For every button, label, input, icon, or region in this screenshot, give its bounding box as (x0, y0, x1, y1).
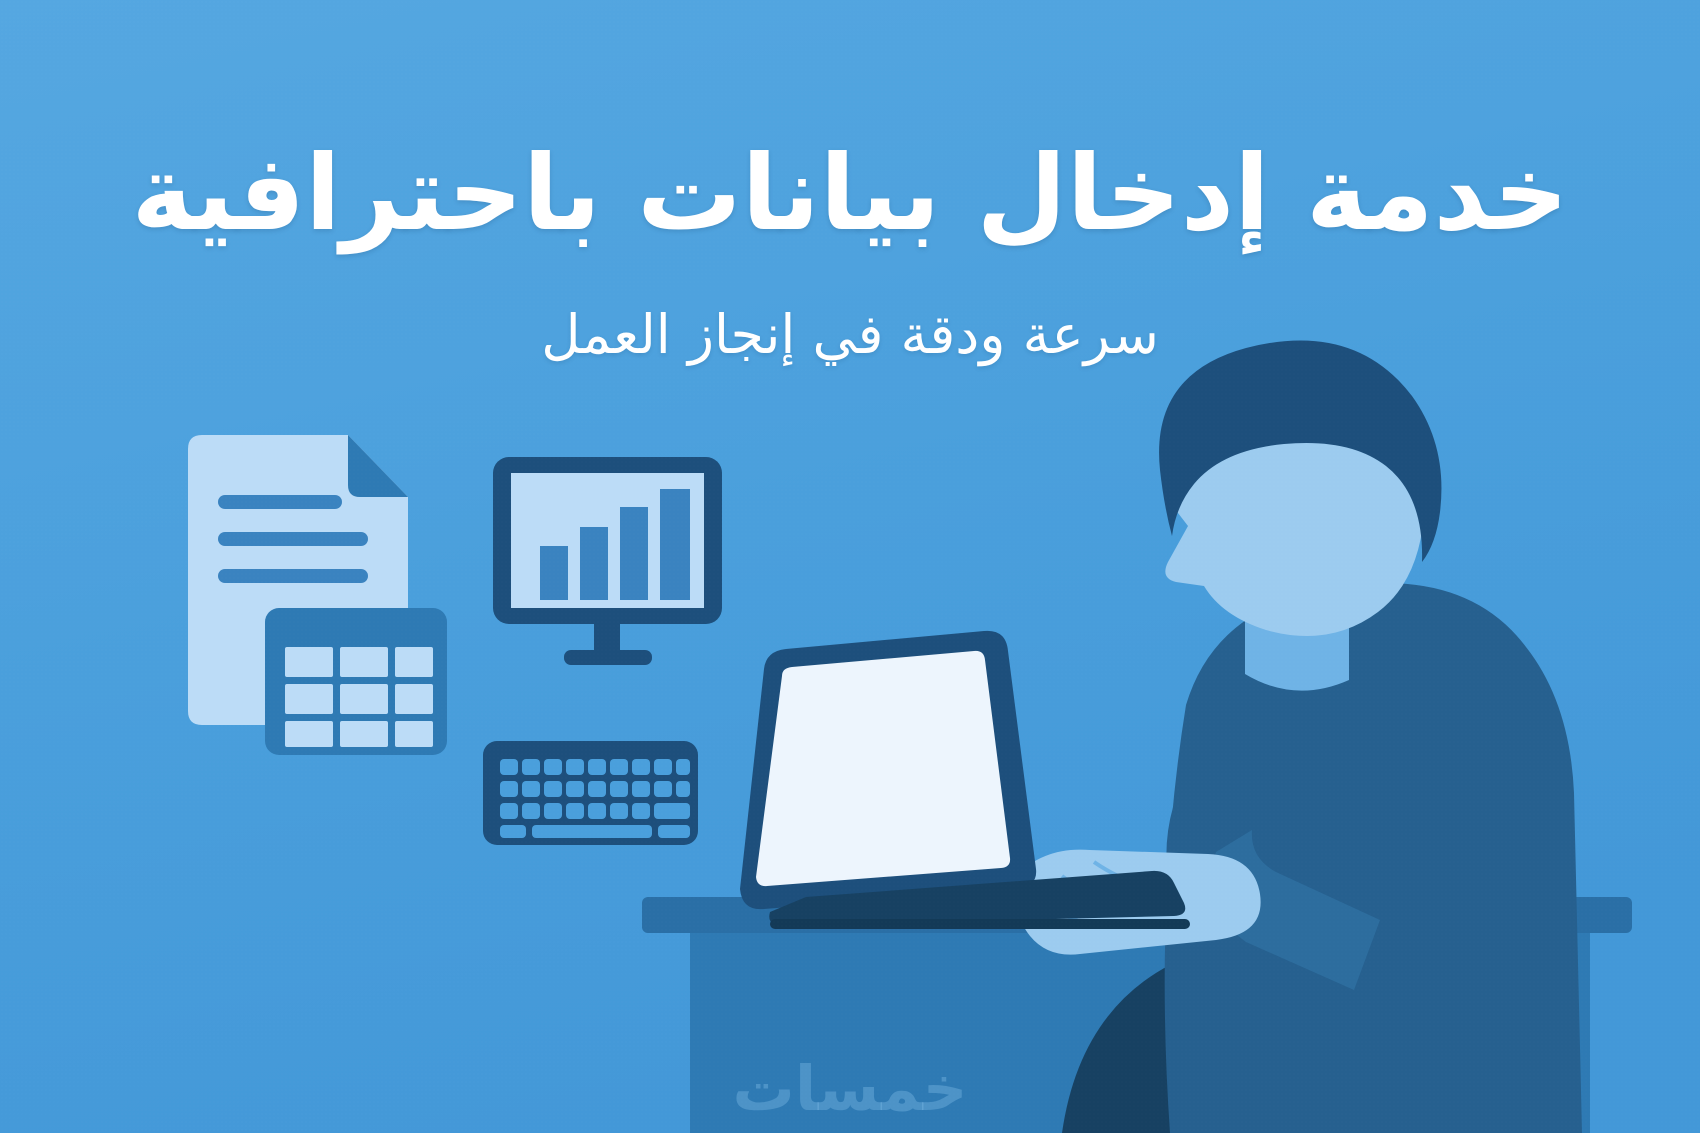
poster-canvas: خدمة إدخال بيانات باحترافية سرعة ودقة في… (0, 0, 1700, 1133)
document-line-3 (218, 569, 368, 583)
monitor-stand-base (564, 650, 652, 665)
document-line-2 (218, 532, 368, 546)
spreadsheet-cells (285, 647, 433, 747)
spreadsheet-icon (265, 608, 447, 755)
laptop-base-edge (770, 919, 1190, 929)
illustration-layer (0, 0, 1700, 1133)
document-line-1 (218, 495, 342, 509)
laptop-screen (756, 651, 1010, 886)
keyboard-spacebar (532, 825, 652, 838)
keyboard-icon (483, 741, 698, 845)
monitor-stand-neck (594, 624, 620, 654)
monitor-bar-chart-icon (493, 457, 722, 665)
laptop (740, 631, 1190, 929)
